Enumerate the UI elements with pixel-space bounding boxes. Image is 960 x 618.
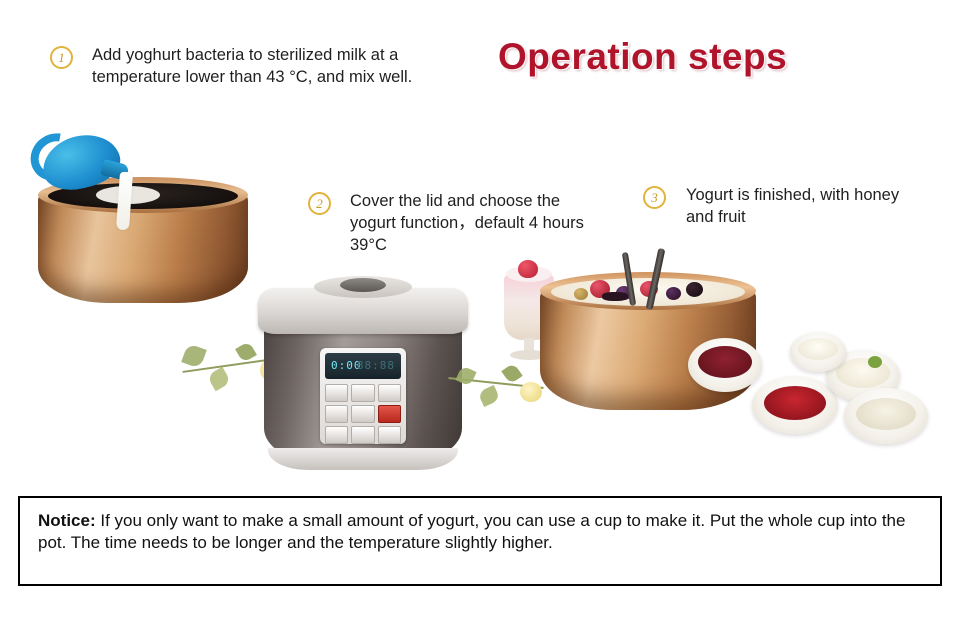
- leaf: [455, 365, 476, 386]
- leaf: [235, 341, 257, 363]
- jug-body: [37, 127, 125, 196]
- pot-body: [540, 288, 756, 410]
- panel-button-grid[interactable]: [325, 384, 401, 444]
- control-panel[interactable]: 0:00 88:88: [320, 348, 406, 444]
- dish: [790, 332, 846, 372]
- leaf: [477, 385, 500, 407]
- glass-foot: [510, 350, 548, 360]
- notice-text: Notice: If you only want to make a small…: [38, 510, 922, 554]
- berry: [666, 287, 681, 300]
- plain-yogurt: [798, 338, 838, 360]
- small-yogurt-dishes: [686, 332, 938, 452]
- berry-sauce: [602, 292, 628, 301]
- yogurt-maker-appliance: 0:00 88:88: [258, 276, 468, 486]
- panel-button[interactable]: [325, 405, 348, 423]
- pot-rim: [540, 272, 756, 310]
- flower: [260, 358, 286, 382]
- page-title: Operation steps: [498, 36, 898, 78]
- mint-leaf: [868, 356, 882, 368]
- twig: [182, 357, 281, 373]
- berry: [640, 281, 658, 297]
- twig: [448, 377, 544, 389]
- display-value: 0:00: [331, 359, 362, 372]
- notice-box: Notice: If you only want to make a small…: [18, 496, 942, 586]
- strawberry-jam: [764, 386, 826, 420]
- glass-cup: [504, 274, 554, 340]
- notice-label: Notice:: [38, 511, 96, 530]
- jug-handle: [21, 124, 88, 190]
- panel-button[interactable]: [351, 384, 374, 402]
- appliance-body: [264, 310, 462, 462]
- leaf: [501, 363, 522, 385]
- berry-jam: [698, 346, 752, 378]
- appliance-lid-knob: [340, 278, 386, 292]
- panel-button[interactable]: [378, 426, 401, 444]
- decorative-foliage-left: [176, 330, 306, 400]
- dish: [752, 376, 838, 434]
- panel-button[interactable]: [378, 384, 401, 402]
- notice-body: If you only want to make a small amount …: [38, 511, 905, 552]
- plain-yogurt: [836, 358, 890, 388]
- serving-spoon: [646, 248, 666, 310]
- berry: [590, 280, 610, 298]
- yogurt-surface: [551, 278, 745, 306]
- strawberry-garnish: [518, 260, 538, 278]
- glass-stem: [524, 338, 534, 352]
- appliance-lid: [258, 288, 468, 334]
- display-sub-value: 88:88: [357, 359, 395, 372]
- berry: [616, 286, 632, 300]
- milk-surface: [96, 186, 160, 204]
- berry: [574, 288, 588, 300]
- step-2-text: Cover the lid and choose the yogurt func…: [350, 190, 600, 256]
- step-2-number: 2: [308, 192, 331, 215]
- glass-cream-top: [506, 266, 552, 282]
- serving-spoon: [622, 252, 636, 306]
- dish: [844, 388, 928, 444]
- panel-button-start[interactable]: [378, 405, 401, 423]
- appliance-lid-top: [314, 276, 412, 298]
- plain-yogurt: [856, 398, 916, 430]
- decorative-foliage-right: [448, 356, 558, 416]
- step-1-number: 1: [50, 46, 73, 69]
- display-screen: 0:00 88:88: [325, 353, 401, 379]
- leaf: [207, 367, 232, 392]
- step-3-text: Yogurt is finished, with honey and fruit: [686, 184, 906, 228]
- pot-with-finished-yogurt: [540, 262, 756, 412]
- pot-interior: [48, 183, 238, 209]
- panel-button[interactable]: [351, 426, 374, 444]
- inner-cooking-pot: [38, 175, 248, 305]
- blue-measuring-jug: [30, 128, 138, 204]
- leaf: [181, 343, 207, 369]
- appliance-base: [268, 448, 458, 470]
- jug-spout: [100, 159, 129, 181]
- pot-body: [38, 191, 248, 303]
- bottom-strip: [0, 598, 960, 618]
- panel-button[interactable]: [325, 384, 348, 402]
- panel-button[interactable]: [325, 426, 348, 444]
- milk-pouring-stream: [116, 172, 133, 231]
- panel-button[interactable]: [351, 405, 374, 423]
- dish: [826, 350, 900, 402]
- step-1-text: Add yoghurt bacteria to sterilized milk …: [92, 44, 432, 88]
- berry: [686, 282, 703, 297]
- flower: [280, 374, 296, 389]
- step-3-number: 3: [643, 186, 666, 209]
- pot-rim: [38, 177, 248, 213]
- flower: [520, 382, 542, 402]
- dish: [688, 338, 762, 392]
- yogurt-parfait-glass: [500, 268, 558, 364]
